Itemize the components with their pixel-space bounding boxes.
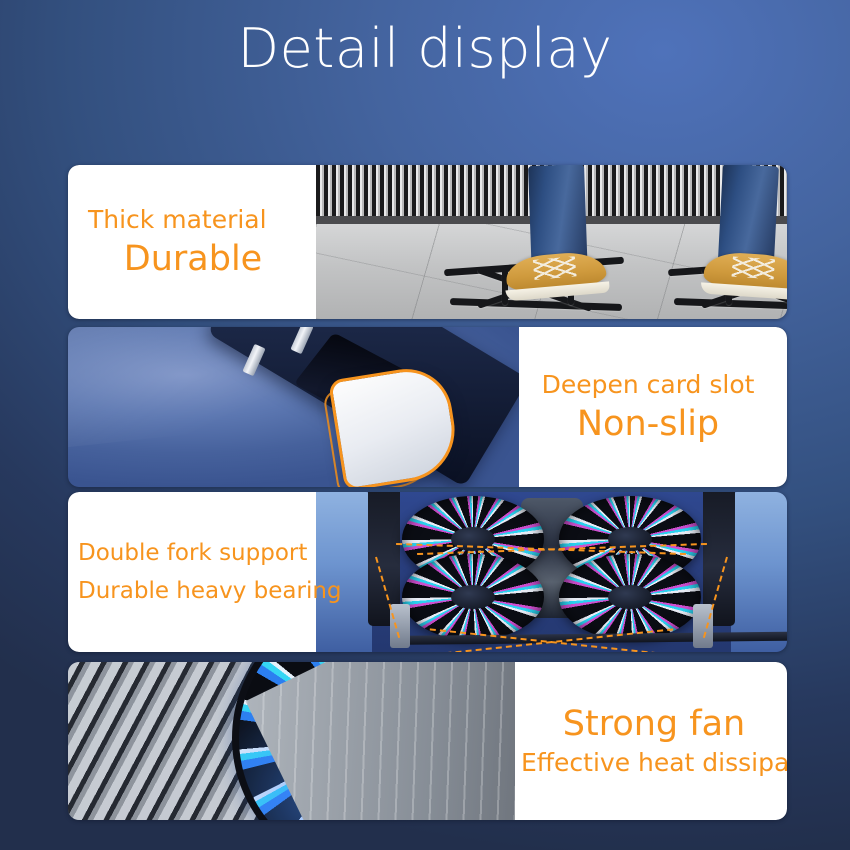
side-panel-left	[316, 492, 372, 652]
page-title: Detail display	[0, 14, 850, 84]
feature-1-line1: Thick material	[84, 203, 316, 237]
rgb-fan-4	[559, 554, 701, 640]
feature-row-deepen-card-slot[interactable]: Deepen card slot Non-slip	[68, 327, 787, 487]
feature-card-strong-fan: Strong fan Effective heat dissipation	[515, 662, 787, 820]
feature-3-line1: Double fork support	[78, 534, 316, 572]
feature-row-strong-fan[interactable]: Strong fan Effective heat dissipation	[68, 662, 787, 820]
feature-row-double-fork-support[interactable]: Double fork support Durable heavy bearin…	[68, 492, 787, 652]
feature-2-line2: Non-slip	[519, 402, 777, 446]
feature-4-line1: Strong fan	[521, 702, 787, 746]
feature-1-photo	[316, 165, 787, 319]
feature-2-photo	[68, 327, 519, 487]
feature-1-line2: Durable	[84, 237, 316, 281]
feature-card-thick-material: Thick material Durable	[68, 165, 316, 319]
feature-3-line2: Durable heavy bearing	[78, 572, 316, 610]
feature-4-line2: Effective heat dissipation	[521, 746, 787, 780]
feature-card-double-fork-support: Double fork support Durable heavy bearin…	[68, 492, 316, 652]
feature-card-deepen-card-slot: Deepen card slot Non-slip	[519, 327, 787, 487]
feature-2-line1: Deepen card slot	[519, 368, 777, 402]
detail-display-page: Detail display Thick material Durable	[0, 0, 850, 850]
rgb-fan-2	[402, 554, 544, 640]
feature-4-photo	[68, 662, 515, 820]
feature-row-thick-material[interactable]: Thick material Durable	[68, 165, 787, 319]
feature-3-photo	[316, 492, 787, 652]
fork-foot-left	[390, 604, 410, 648]
side-panel-right	[731, 492, 787, 652]
